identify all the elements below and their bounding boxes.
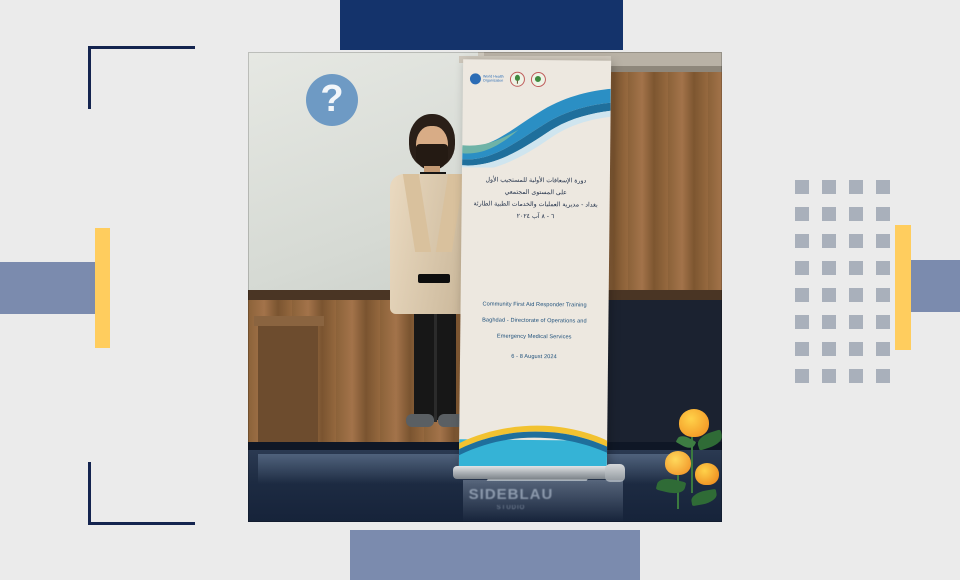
dot — [795, 261, 809, 275]
watermark-sub-text: STUDIO — [497, 505, 526, 511]
event-photograph: ? — [248, 52, 722, 522]
dot — [795, 369, 809, 383]
dot — [822, 369, 836, 383]
person-shoe-left — [406, 414, 434, 427]
banner-stand-base — [453, 466, 621, 479]
question-mark-icon: ? — [306, 74, 358, 126]
orange-roses — [643, 407, 722, 522]
dot — [795, 342, 809, 356]
slate-right-bar — [910, 260, 960, 312]
person-belt — [418, 274, 450, 283]
who-logo-label: World Health Organization — [483, 74, 504, 82]
poster-canvas: ? — [0, 0, 960, 580]
banner-arabic-line-4: ٦ - ٨ آب ٢٠٢٤ — [461, 212, 609, 221]
dot — [849, 180, 863, 194]
banner-english-line-2: Baghdad - Directorate of Operations and — [460, 317, 608, 325]
dot — [849, 288, 863, 302]
dot — [795, 288, 809, 302]
banner-arabic-text: دورة الإسعافات الأولية للمستجيب الأول عل… — [461, 171, 610, 226]
dot — [822, 315, 836, 329]
banner-arabic-line-1: دورة الإسعافات الأولية للمستجيب الأول — [462, 176, 610, 185]
frame-corner-bottom-left — [88, 462, 195, 525]
flower-leaf — [690, 489, 718, 506]
podium — [258, 322, 318, 452]
dot — [849, 234, 863, 248]
dot — [876, 180, 890, 194]
dot — [795, 180, 809, 194]
dot — [822, 234, 836, 248]
dot — [822, 342, 836, 356]
frame-corner-top-left — [88, 46, 195, 109]
banner-wave-graphic-bottom — [459, 421, 607, 471]
person-leg-seam — [434, 310, 437, 422]
slate-left-bar — [0, 262, 95, 314]
banner-date: 6 - 8 August 2024 — [460, 353, 608, 361]
dot — [822, 261, 836, 275]
dot — [849, 207, 863, 221]
slate-bottom-bar — [350, 530, 640, 580]
ministry-tree-logo-icon — [510, 71, 525, 86]
dot — [822, 288, 836, 302]
dot — [849, 315, 863, 329]
dot — [795, 207, 809, 221]
banner-arabic-line-3: بغداد - مديرية العمليات والخدمات الطبية … — [462, 200, 610, 209]
dot — [795, 234, 809, 248]
banner-english-line-3: Emergency Medical Services — [460, 333, 608, 341]
dot — [876, 288, 890, 302]
question-mark-glyph: ? — [320, 80, 343, 118]
watermark-main-text: SIDEBLAU — [469, 487, 554, 502]
banner-english-line-1: Community First Aid Responder Training — [461, 301, 609, 309]
gold-accent-right — [895, 225, 911, 350]
dot — [795, 315, 809, 329]
rollup-banner: World Health Organization دورة الإسعافات… — [459, 59, 611, 471]
navy-top-bar — [340, 0, 623, 50]
dot — [876, 234, 890, 248]
dot — [849, 261, 863, 275]
dot — [876, 261, 890, 275]
banner-wave-graphic-top — [462, 87, 611, 169]
dot — [849, 342, 863, 356]
rose-bloom — [695, 463, 719, 485]
who-emblem-icon — [470, 73, 481, 84]
banner-arabic-line-2: على المستوى المجتمعي — [462, 188, 610, 197]
who-logo: World Health Organization — [470, 73, 504, 84]
banner-english-text: Community First Aid Responder Training B… — [460, 291, 609, 371]
dot — [822, 207, 836, 221]
dot — [876, 207, 890, 221]
gold-accent-left — [95, 228, 110, 348]
rose-bloom — [679, 409, 709, 437]
dot-grid-decoration — [795, 180, 890, 383]
rose-bloom — [665, 451, 691, 475]
dot — [876, 315, 890, 329]
dot — [849, 369, 863, 383]
flower-leaf — [656, 476, 687, 496]
dot — [876, 369, 890, 383]
partner-logo-icon — [531, 71, 546, 86]
photo-watermark: SIDEBLAU STUDIO — [461, 482, 561, 516]
dot — [876, 342, 890, 356]
podium-top — [254, 316, 324, 326]
dot — [822, 180, 836, 194]
